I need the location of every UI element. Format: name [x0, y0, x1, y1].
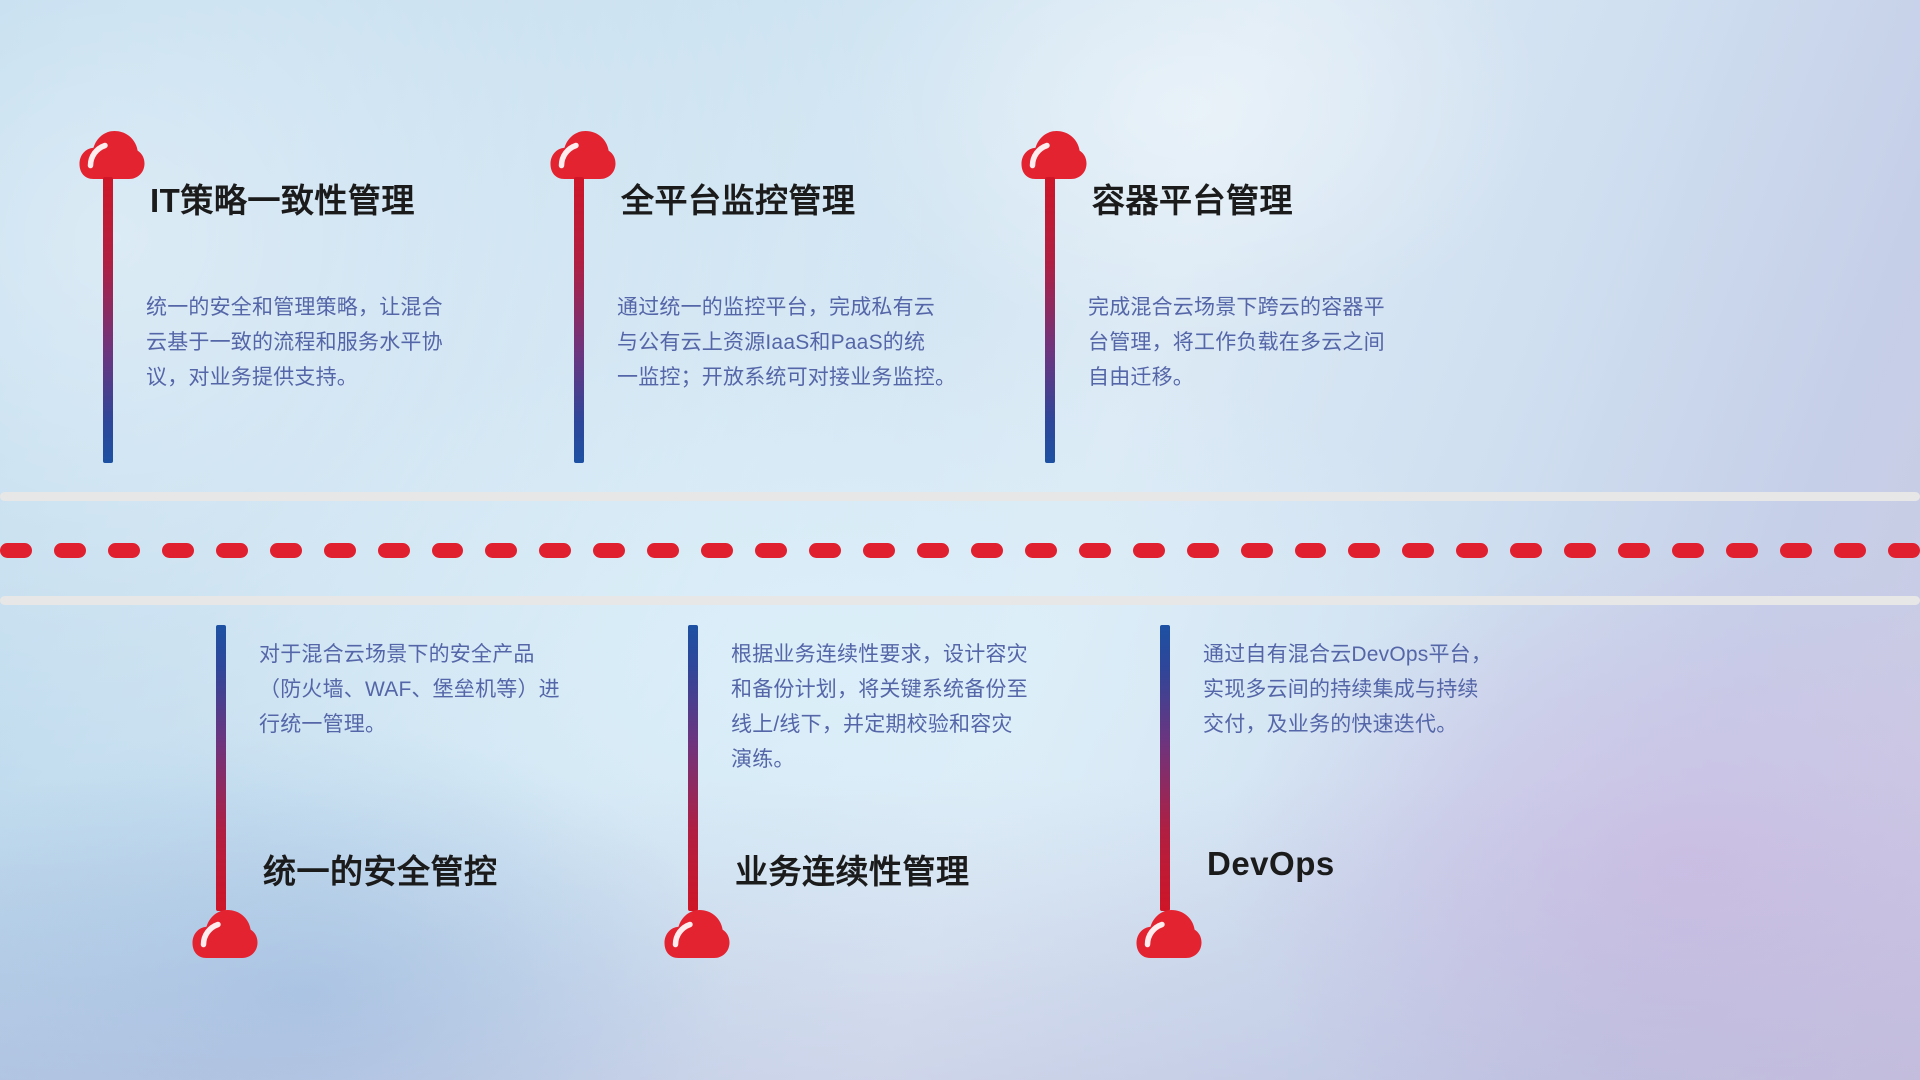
separator-dash: [701, 543, 733, 558]
connector-line: [216, 625, 226, 911]
separator-dash: [1133, 543, 1165, 558]
separator-dash: [1618, 543, 1650, 558]
separator-dash: [378, 543, 410, 558]
cloud-icon: [1021, 130, 1087, 180]
separator-dash: [755, 543, 787, 558]
separator-dash: [971, 543, 1003, 558]
card-title: 全平台监控管理: [621, 174, 856, 222]
card-title: DevOps: [1207, 845, 1335, 883]
cloud-icon: [192, 909, 258, 959]
card-title: 业务连续性管理: [735, 845, 970, 893]
separator-dash: [432, 543, 464, 558]
separator-dash: [539, 543, 571, 558]
separator-dash: [1241, 543, 1273, 558]
card-body: 完成混合云场景下跨云的容器平 台管理，将工作负载在多云之间 自由迁移。: [1088, 290, 1488, 395]
separator-dash: [1672, 543, 1704, 558]
separator-dash: [1456, 543, 1488, 558]
separator-dash: [1025, 543, 1057, 558]
separator-dash: [647, 543, 679, 558]
card-title: IT策略一致性管理: [150, 174, 415, 222]
connector-line: [574, 177, 584, 463]
separator-dash: [108, 543, 140, 558]
connector-line: [103, 177, 113, 463]
separator-dash: [324, 543, 356, 558]
separator-dash: [1726, 543, 1758, 558]
card-body: 通过自有混合云DevOps平台， 实现多云间的持续集成与持续 交付，及业务的快速…: [1203, 637, 1613, 742]
separator-dash: [1888, 543, 1920, 558]
separator-dash: [809, 543, 841, 558]
cloud-icon: [550, 130, 616, 180]
separator-dash: [917, 543, 949, 558]
separator-dash: [1402, 543, 1434, 558]
separator-dash: [54, 543, 86, 558]
connector-line: [1160, 625, 1170, 911]
card-body: 对于混合云场景下的安全产品 （防火墙、WAF、堡垒机等）进 行统一管理。: [259, 637, 659, 742]
separator-dash: [0, 543, 32, 558]
cloud-icon: [79, 130, 145, 180]
connector-line: [1045, 177, 1055, 463]
separator-dash: [1187, 543, 1219, 558]
card-body: 通过统一的监控平台，完成私有云 与公有云上资源IaaS和PaaS的统 一监控；开…: [617, 290, 1017, 395]
separator-dash: [1780, 543, 1812, 558]
card-title: 统一的安全管控: [263, 845, 498, 893]
separator-dash: [1295, 543, 1327, 558]
separator-dash: [485, 543, 517, 558]
card-body: 根据业务连续性要求，设计容灾 和备份计划，将关键系统备份至 线上/线下，并定期校…: [731, 637, 1131, 777]
cloud-icon: [664, 909, 730, 959]
connector-line: [688, 625, 698, 911]
separator-dash: [162, 543, 194, 558]
divider-band-top: [0, 492, 1920, 501]
divider-band-bottom: [0, 596, 1920, 605]
card-body: 统一的安全和管理策略，让混合 云基于一致的流程和服务水平协 议，对业务提供支持。: [146, 290, 536, 395]
separator-dash: [863, 543, 895, 558]
card-title: 容器平台管理: [1092, 174, 1293, 222]
separator-dash: [1079, 543, 1111, 558]
separator-dash: [593, 543, 625, 558]
separator-dash: [1348, 543, 1380, 558]
separator-dash: [1564, 543, 1596, 558]
red-dashed-separator: [0, 543, 1920, 558]
cloud-icon: [1136, 909, 1202, 959]
separator-dash: [1834, 543, 1866, 558]
separator-dash: [216, 543, 248, 558]
separator-dash: [270, 543, 302, 558]
separator-dash: [1510, 543, 1542, 558]
